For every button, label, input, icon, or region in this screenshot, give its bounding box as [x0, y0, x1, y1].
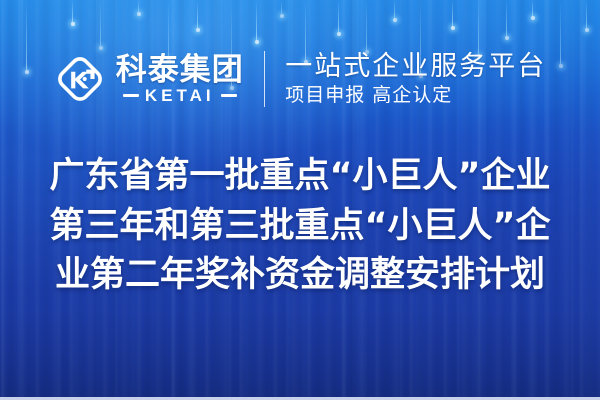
title-line-2: 第三年和第三批重点“小巨人”企 [49, 202, 550, 252]
brand-lockup[interactable]: 科泰集团 KETAI [54, 53, 244, 105]
banner-title: 广东省第一批重点“小巨人”企业 第三年和第三批重点“小巨人”企 业第二年奖补资金… [0, 152, 600, 301]
company-name-cn: 科泰集团 [116, 54, 244, 85]
light-particle-streak [197, 0, 198, 30]
title-line-3: 业第二年奖补资金调整安排计划 [55, 251, 545, 301]
light-particle-streak [281, 0, 282, 16]
brand-dash-right-icon [221, 94, 237, 97]
banner-header: 科泰集团 KETAI 一站式企业服务平台 项目申报 高企认定 [0, 44, 600, 114]
light-particle-streak [586, 0, 587, 30]
light-particle-streak [532, 0, 533, 18]
title-line-1: 广东省第一批重点“小巨人”企业 [49, 152, 550, 202]
light-particle-streak [338, 0, 339, 34]
company-name-en: KETAI [145, 87, 215, 104]
light-particle-streak [100, 0, 101, 48]
ketai-kp-diamond-logo-icon [54, 53, 106, 105]
slogan-group: 一站式企业服务平台 项目申报 高企认定 [285, 52, 546, 105]
company-name-en-row: KETAI [116, 87, 244, 104]
light-particle-streak [138, 0, 139, 14]
slogan-main: 一站式企业服务平台 [285, 52, 546, 81]
brand-dash-left-icon [123, 94, 139, 97]
light-particle-streak [72, 0, 73, 24]
light-particle-streak [394, 0, 395, 20]
light-particle-streak [452, 0, 453, 28]
light-particle-streak [256, 0, 257, 42]
brand-text-group: 科泰集团 KETAI [116, 54, 244, 104]
promo-banner: 科泰集团 KETAI 一站式企业服务平台 项目申报 高企认定 广东省第一批重点“… [0, 0, 600, 400]
slogan-sub: 项目申报 高企认定 [285, 85, 546, 106]
light-particle-streak [506, 0, 507, 38]
header-divider [264, 51, 266, 107]
